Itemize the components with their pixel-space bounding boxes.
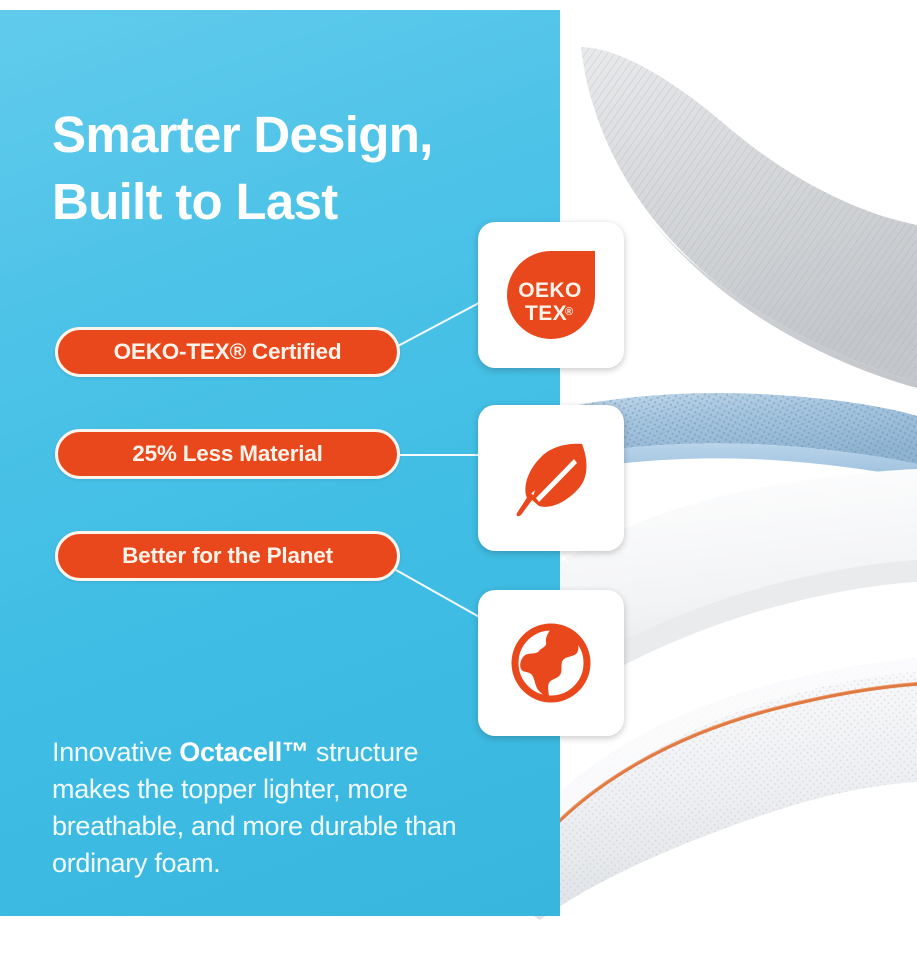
feather-icon bbox=[505, 432, 597, 524]
feature-pill-label: 25% Less Material bbox=[132, 441, 322, 467]
feature-pill-label: OEKO-TEX® Certified bbox=[114, 339, 342, 365]
body-copy: Innovative Octacell™ structure makes the… bbox=[52, 734, 472, 882]
feature-pill-oeko-tex[interactable]: OEKO-TEX® Certified bbox=[55, 327, 400, 377]
body-copy-prefix: Innovative bbox=[52, 737, 179, 767]
feature-pill-less-material[interactable]: 25% Less Material bbox=[55, 429, 400, 479]
icon-card-oeko-tex[interactable]: OEKO TEX ® bbox=[478, 222, 624, 368]
feature-pill-label: Better for the Planet bbox=[122, 543, 333, 569]
page-title: Smarter Design, Built to Last bbox=[52, 102, 522, 236]
octacell-term: Octacell™ bbox=[179, 737, 308, 767]
headline-line-1: Smarter Design, bbox=[52, 102, 522, 169]
infographic-canvas: Smarter Design, Built to Last OEKO-TEX® … bbox=[0, 0, 917, 960]
headline-line-2: Built to Last bbox=[52, 169, 522, 236]
oeko-tex-logo-line2: TEX bbox=[525, 302, 567, 325]
oeko-tex-logo-icon: OEKO TEX ® bbox=[503, 247, 599, 343]
globe-icon bbox=[505, 617, 597, 709]
registered-mark: ® bbox=[565, 306, 573, 318]
icon-card-feather[interactable] bbox=[478, 405, 624, 551]
icon-card-globe[interactable] bbox=[478, 590, 624, 736]
oeko-tex-logo-line1: OEKO bbox=[518, 279, 581, 302]
feature-pill-better-planet[interactable]: Better for the Planet bbox=[55, 531, 400, 581]
